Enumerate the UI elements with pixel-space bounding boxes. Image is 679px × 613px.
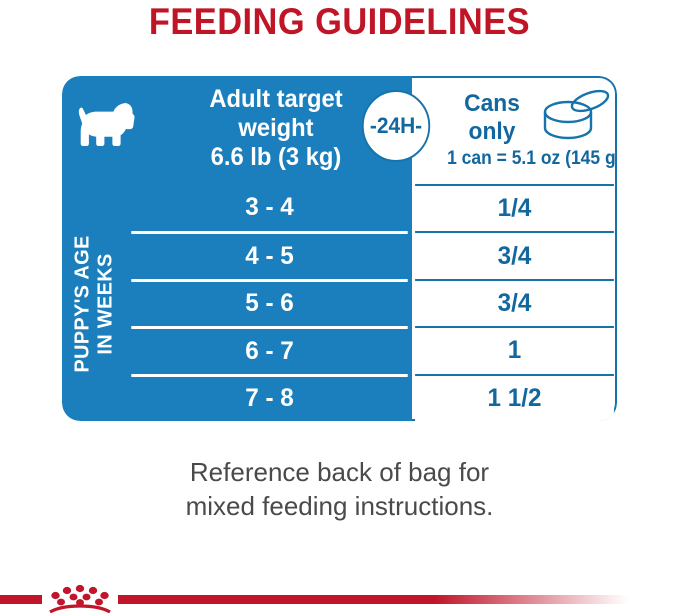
table-header-row: Adult target weight 6.6 lb (3 kg) -24H- … <box>62 76 617 180</box>
table-row: 4 - 5 3/4 <box>127 231 617 278</box>
brand-bar-left-segment <box>0 595 42 604</box>
can-equivalence-note: 1 can = 5.1 oz (145 g) <box>447 148 610 170</box>
puppy-age-side-label: PUPPY'S AGE IN WEEKS <box>62 186 127 421</box>
table-body: 3 - 4 1/4 4 - 5 3/4 5 - 6 3/4 6 - 7 1 7 … <box>127 184 617 421</box>
table-row: 3 - 4 1/4 <box>127 184 617 231</box>
cell-age: 4 - 5 <box>131 231 407 278</box>
footer-note: Reference back of bag for mixed feeding … <box>0 455 679 523</box>
brand-footer-bar <box>0 584 679 613</box>
cell-amount: 3/4 <box>415 279 614 326</box>
duration-badge-label: -24H- <box>362 90 430 162</box>
open-can-icon <box>538 89 612 147</box>
weight-label-line2: weight <box>238 114 313 143</box>
cell-amount: 1/4 <box>415 184 614 231</box>
cans-label-line1: Cans <box>450 90 534 118</box>
header-cans-cell: Cans only 1 can = 5.1 oz (145 g) <box>440 82 617 178</box>
cell-amount: 1 1/2 <box>415 374 614 421</box>
cans-label-line2: only <box>450 118 534 146</box>
cell-amount: 1 <box>415 326 614 373</box>
header-puppy-cell <box>62 76 127 180</box>
table-row: 5 - 6 3/4 <box>127 279 617 326</box>
cell-age: 6 - 7 <box>131 326 407 373</box>
table-row: 7 - 8 1 1/2 <box>127 374 617 421</box>
royal-canin-crown-logo <box>44 584 116 613</box>
footer-line1: Reference back of bag for <box>0 455 679 489</box>
side-label-line2: IN WEEKS <box>95 235 118 372</box>
table-row: 6 - 7 1 <box>127 326 617 373</box>
feeding-guidelines-table: Adult target weight 6.6 lb (3 kg) -24H- … <box>62 76 617 421</box>
header-duration-badge: -24H- <box>360 90 436 166</box>
weight-label-line1: Adult target <box>209 85 342 114</box>
cell-age: 7 - 8 <box>131 374 407 421</box>
footer-line2: mixed feeding instructions. <box>0 489 679 523</box>
cell-age: 3 - 4 <box>131 184 407 231</box>
puppy-silhouette-icon <box>70 94 142 160</box>
cans-only-label: Cans only <box>450 90 534 146</box>
cell-amount: 3/4 <box>415 231 614 278</box>
weight-value: 6.6 lb (3 kg) <box>211 143 342 172</box>
side-label-line1: PUPPY'S AGE <box>72 235 95 372</box>
page-title: FEEDING GUIDELINES <box>24 2 655 42</box>
brand-bar-right-segment <box>118 595 628 604</box>
cell-age: 5 - 6 <box>131 279 407 326</box>
